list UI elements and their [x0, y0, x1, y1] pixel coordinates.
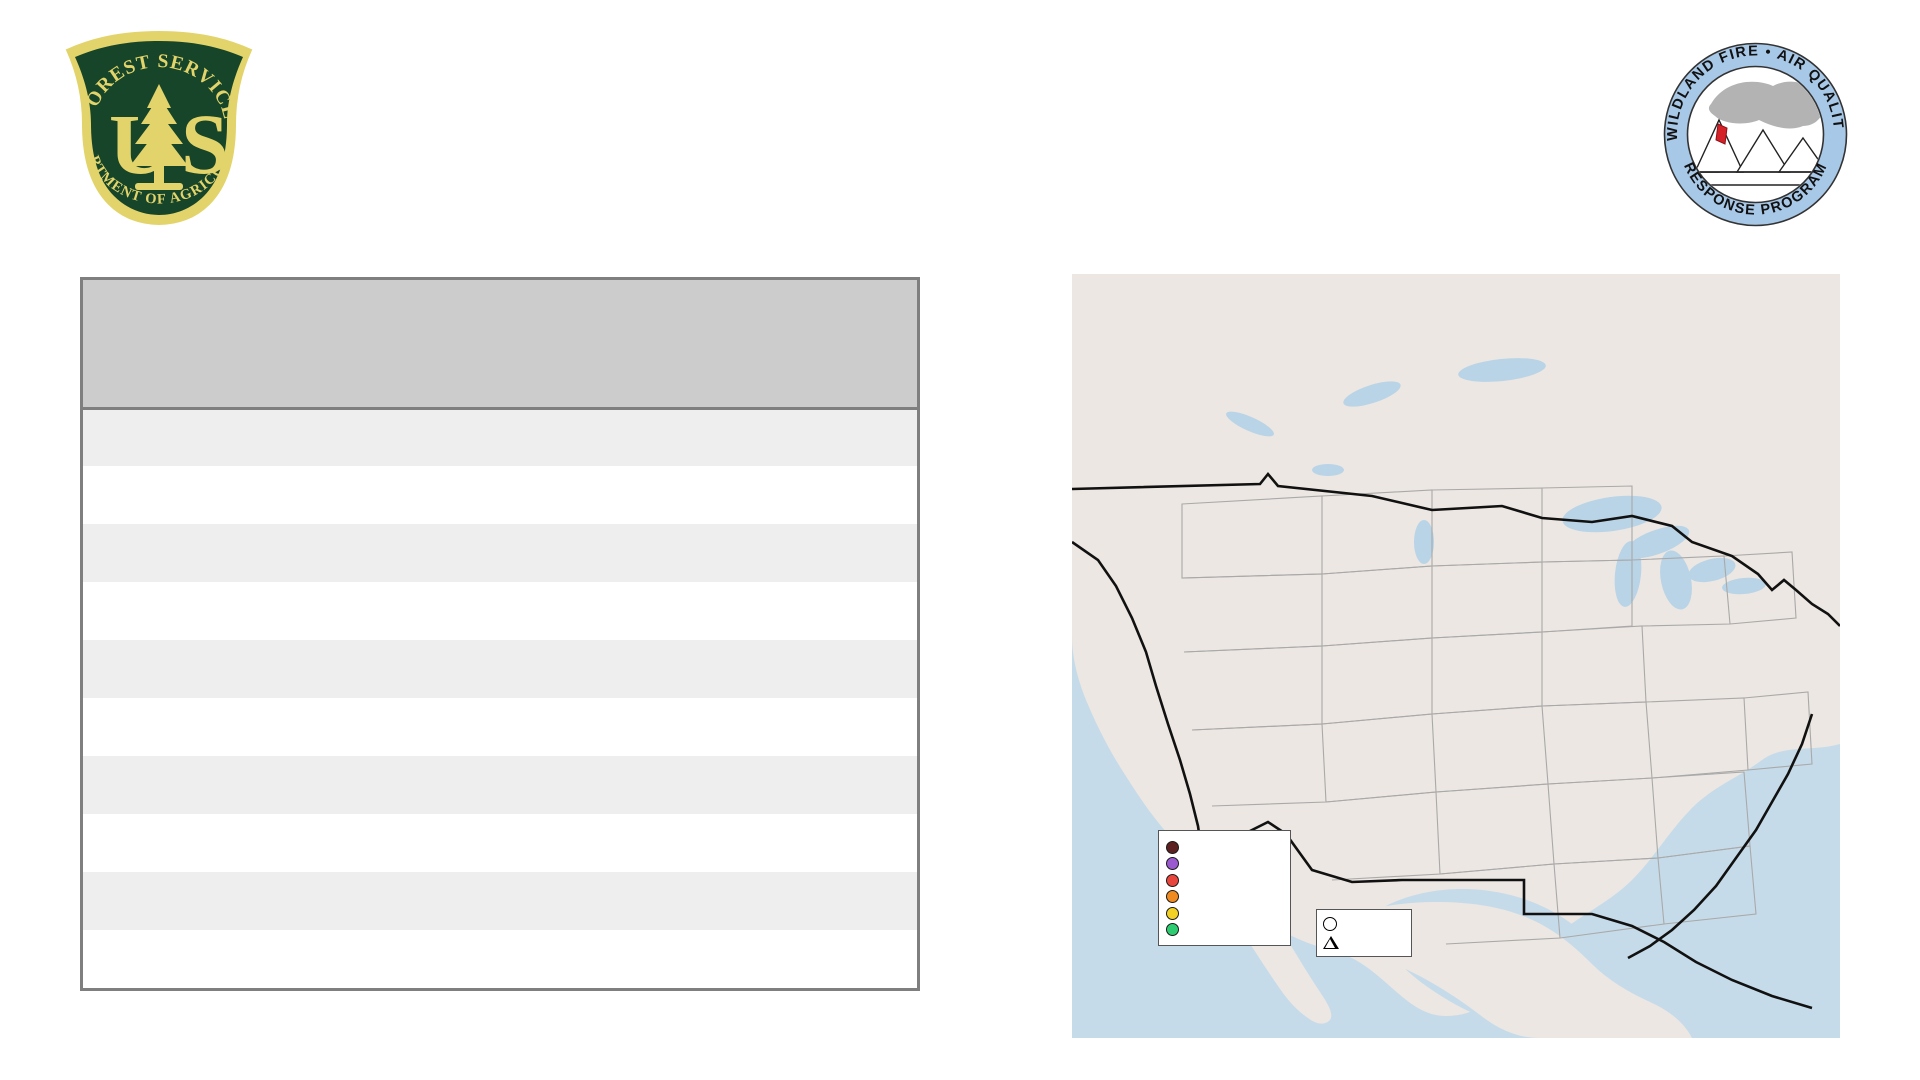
cell-site — [83, 466, 517, 524]
cell-site — [83, 814, 517, 872]
legend-row-temporary — [1323, 915, 1405, 933]
cell-state — [517, 640, 692, 698]
table-row — [83, 408, 917, 466]
table-row — [83, 814, 917, 872]
wfaqrp-seal-icon: WILDLAND FIRE • AIR QUALITY RESPONSE PRO… — [1663, 42, 1848, 227]
aqi-swatch-icon — [1166, 874, 1179, 887]
column-header-site — [83, 280, 517, 408]
table-row — [83, 582, 917, 640]
cell-value — [692, 408, 917, 466]
cell-state — [517, 698, 692, 756]
cell-site — [83, 698, 517, 756]
cell-value — [692, 640, 917, 698]
cell-value — [692, 698, 917, 756]
column-header-pm-nowcast — [692, 280, 917, 408]
table-header — [83, 280, 917, 408]
cell-site — [83, 872, 517, 930]
cell-state — [517, 872, 692, 930]
circle-outline-icon — [1323, 917, 1337, 931]
aqi-swatch-icon — [1166, 841, 1179, 854]
aqi-legend-row — [1166, 856, 1283, 873]
usda-forest-service-logo: FOREST SERVICE U S DEPARTMENT OF AGRICUL… — [55, 28, 263, 228]
table-row — [83, 756, 917, 814]
cell-value — [692, 466, 917, 524]
cell-value — [692, 930, 917, 988]
table-row — [83, 698, 917, 756]
top-nowcast-table — [80, 277, 920, 991]
cell-site — [83, 930, 517, 988]
aqi-swatch-icon — [1166, 923, 1179, 936]
aqi-legend-row — [1166, 872, 1283, 889]
table-row — [83, 640, 917, 698]
cell-value — [692, 524, 917, 582]
cell-state — [517, 930, 692, 988]
cell-site — [83, 408, 517, 466]
national-aqi-map[interactable] — [1072, 274, 1840, 1038]
cell-state — [517, 408, 692, 466]
cell-value — [692, 582, 917, 640]
aqi-legend-row — [1166, 922, 1283, 939]
site-type-legend — [1316, 909, 1412, 957]
cell-value — [692, 756, 917, 814]
aqi-swatch-icon — [1166, 907, 1179, 920]
table-row — [83, 466, 917, 524]
table-row — [83, 872, 917, 930]
cell-state — [517, 814, 692, 872]
triangle-outline-icon — [1323, 936, 1339, 949]
cell-state — [517, 582, 692, 640]
aqi-legend-row — [1166, 839, 1283, 856]
legend-row-permanent — [1323, 933, 1405, 951]
table-body — [83, 408, 917, 988]
cell-site — [83, 524, 517, 582]
cell-site — [83, 640, 517, 698]
cell-site — [83, 756, 517, 814]
wildland-fire-air-quality-logo: WILDLAND FIRE • AIR QUALITY RESPONSE PRO… — [1663, 42, 1848, 227]
cell-site — [83, 582, 517, 640]
table-header-row — [83, 280, 917, 408]
aqi-swatch-icon — [1166, 857, 1179, 870]
aqi-legend — [1158, 830, 1291, 946]
aqi-legend-row — [1166, 889, 1283, 906]
cell-state — [517, 524, 692, 582]
cell-value — [692, 872, 917, 930]
page-root: FOREST SERVICE U S DEPARTMENT OF AGRICUL… — [0, 0, 1920, 1080]
column-header-state — [517, 280, 692, 408]
cell-state — [517, 466, 692, 524]
cell-state — [517, 756, 692, 814]
aqi-swatch-icon — [1166, 890, 1179, 903]
table-row — [83, 930, 917, 988]
cell-value — [692, 814, 917, 872]
forest-service-shield-icon: FOREST SERVICE U S DEPARTMENT OF AGRICUL… — [55, 28, 263, 228]
table-row — [83, 524, 917, 582]
aqi-legend-row — [1166, 905, 1283, 922]
